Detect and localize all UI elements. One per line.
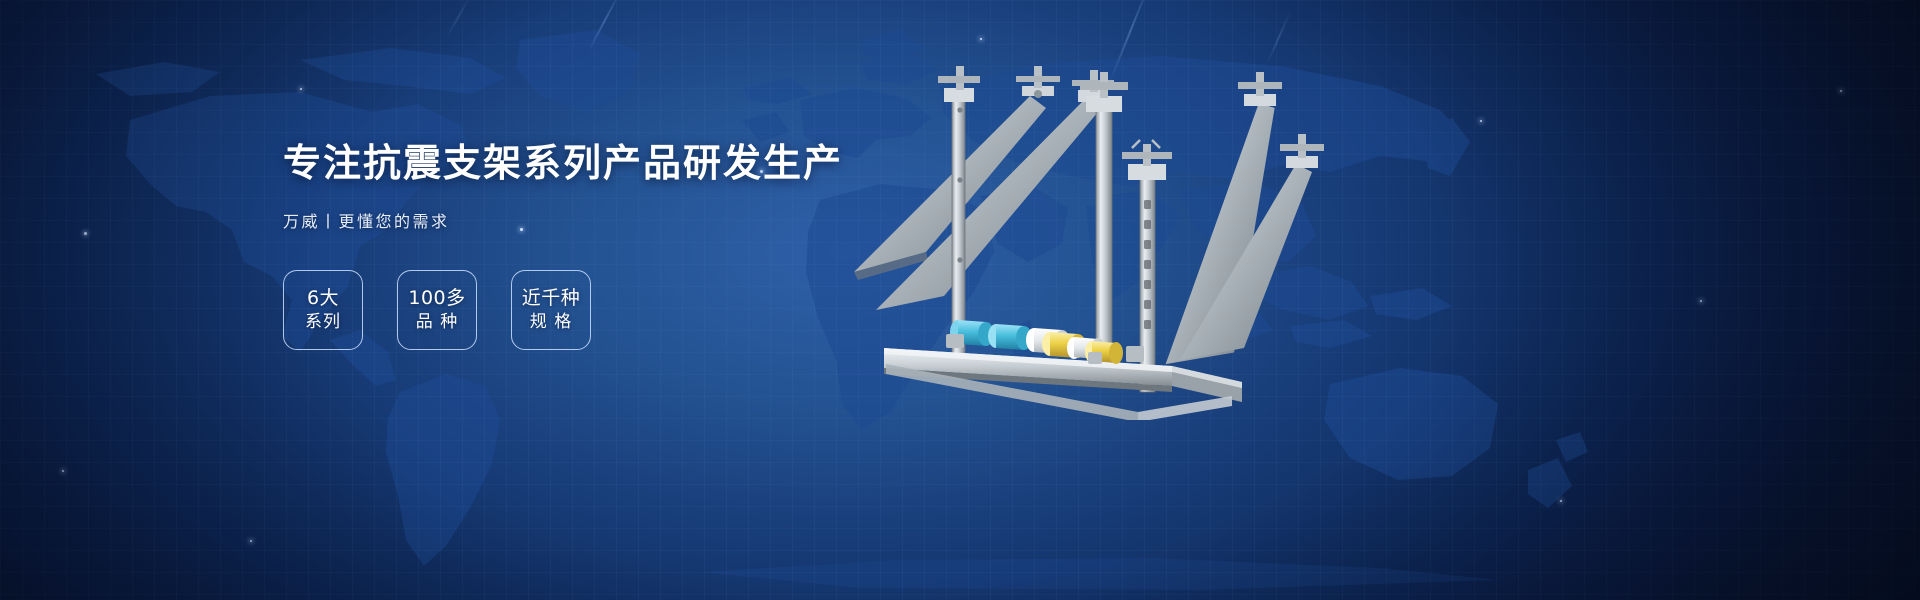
badge-varieties[interactable]: 100多 品 种 [397,270,477,350]
badge-varieties-line1: 100多 [408,286,465,311]
product-image-seismic-bracing [840,60,1360,420]
hero-banner: 专注抗震支架系列产品研发生产 万威丨更懂您的需求 6大 系列 100多 品 种 … [0,0,1920,600]
badge-group: 6大 系列 100多 品 种 近千种 规 格 [283,270,843,350]
banner-content: 专注抗震支架系列产品研发生产 万威丨更懂您的需求 6大 系列 100多 品 种 … [283,142,843,350]
badge-specifications-line2: 规 格 [530,311,572,333]
badge-specifications-line1: 近千种 [522,286,581,311]
page-title: 专注抗震支架系列产品研发生产 [283,142,843,186]
badge-series-line1: 6大 [307,286,339,311]
badge-specifications[interactable]: 近千种 规 格 [511,270,591,350]
subtitle: 万威丨更懂您的需求 [283,208,843,232]
badge-varieties-line2: 品 种 [416,311,458,333]
badge-series-line2: 系列 [305,311,341,333]
badge-series[interactable]: 6大 系列 [283,270,363,350]
